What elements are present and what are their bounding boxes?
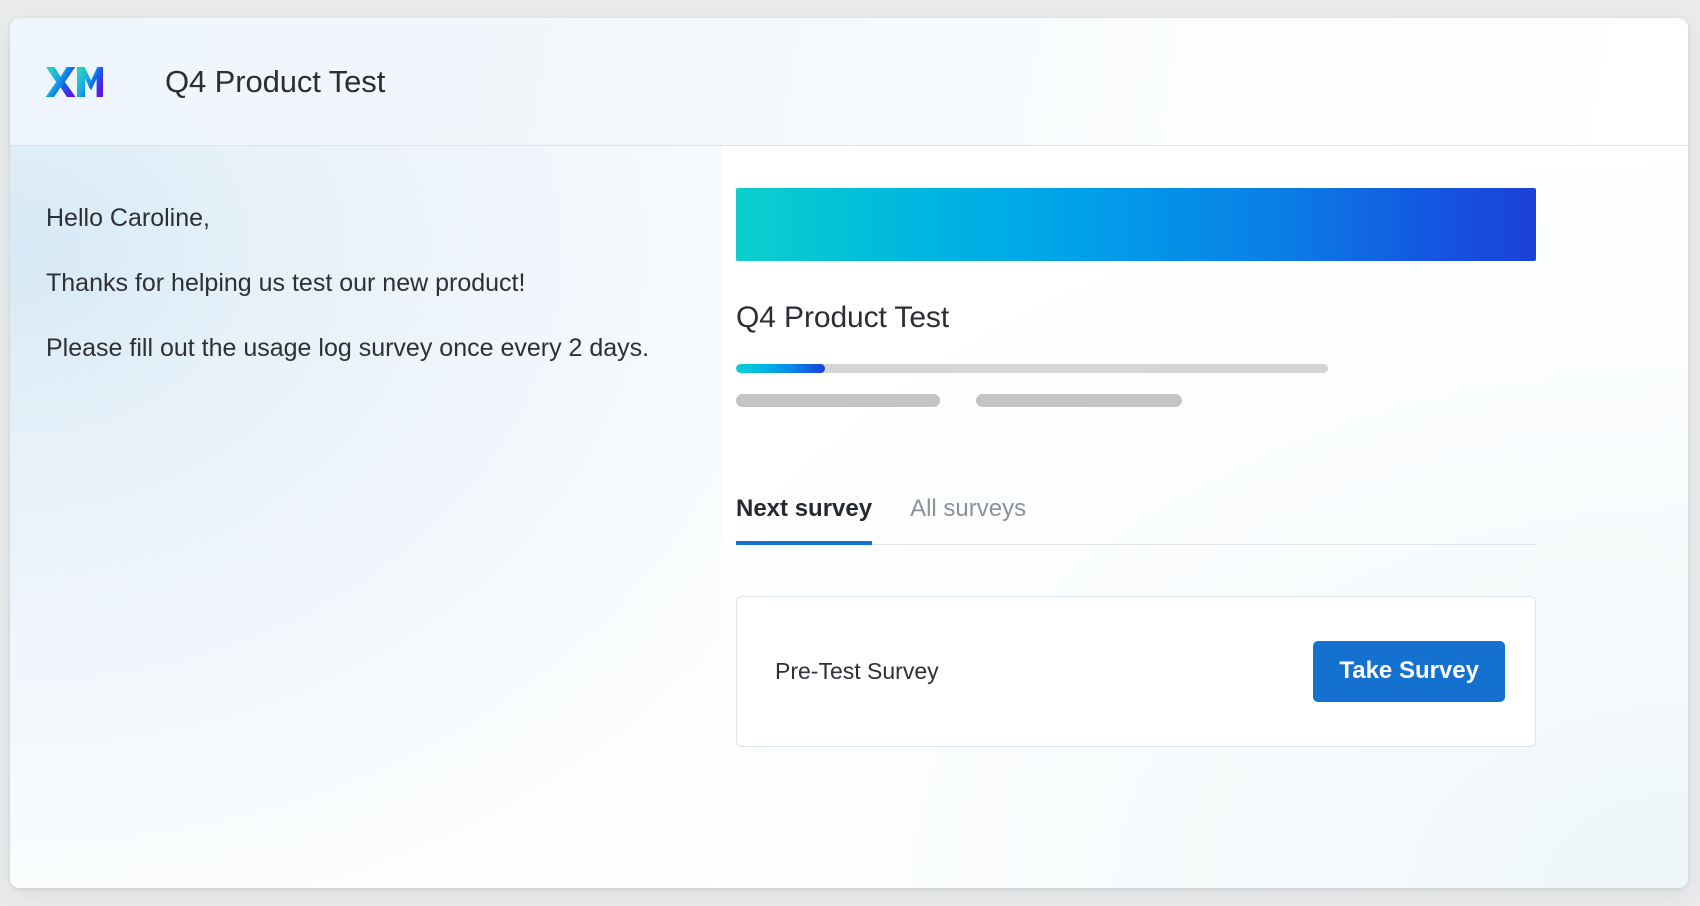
app-body: Hello Caroline, Thanks for helping us te… <box>10 146 1688 888</box>
app-header: Q4 Product Test <box>10 18 1688 146</box>
survey-card: Pre-Test Survey Take Survey <box>736 596 1536 747</box>
take-survey-button[interactable]: Take Survey <box>1313 641 1505 702</box>
greeting-line-2: Thanks for helping us test our new produ… <box>46 267 682 299</box>
project-banner-image <box>736 188 1536 261</box>
survey-name-label: Pre-Test Survey <box>775 658 939 685</box>
skeleton-bar-1 <box>736 394 940 407</box>
survey-tabs: Next survey All surveys <box>736 495 1536 545</box>
survey-panel: Q4 Product Test Next survey All surveys … <box>722 146 1688 888</box>
page-title: Q4 Product Test <box>165 64 385 100</box>
greeting-line-1: Hello Caroline, <box>46 202 682 234</box>
tab-next-survey[interactable]: Next survey <box>736 495 872 544</box>
tab-all-surveys[interactable]: All surveys <box>910 495 1026 544</box>
progress-bar-track <box>736 364 1328 373</box>
xm-logo-icon <box>45 62 103 102</box>
progress-bar-fill <box>736 364 825 373</box>
skeleton-bar-2 <box>976 394 1182 407</box>
greeting-panel: Hello Caroline, Thanks for helping us te… <box>10 146 722 888</box>
application-window: Q4 Product Test Hello Caroline, Thanks f… <box>10 18 1688 888</box>
greeting-line-3: Please fill out the usage log survey onc… <box>46 332 682 364</box>
skeleton-placeholder-row <box>736 394 1648 407</box>
project-title: Q4 Product Test <box>736 301 1648 335</box>
